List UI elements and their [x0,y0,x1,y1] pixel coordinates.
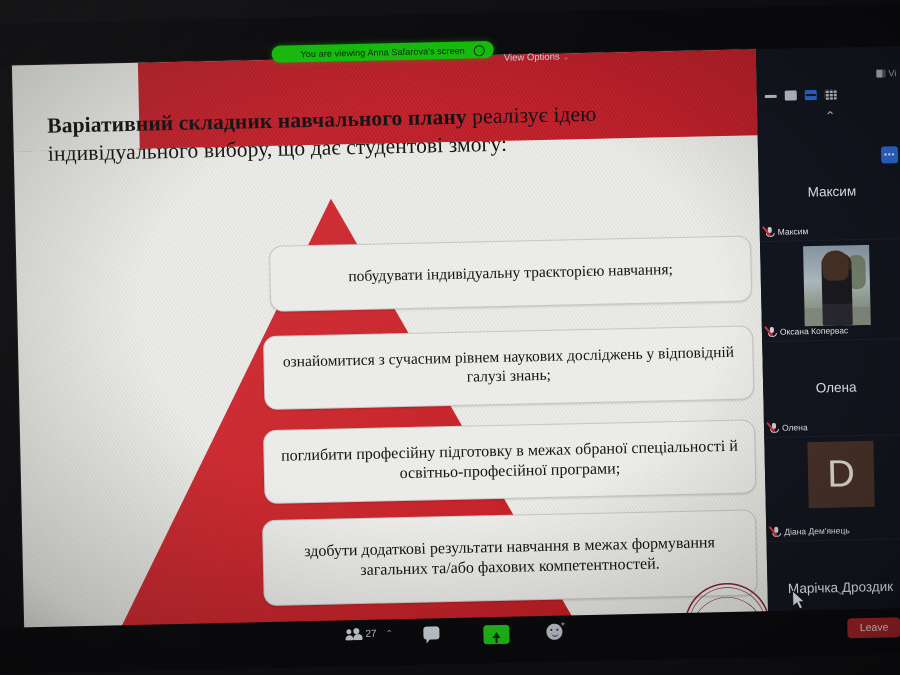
minimize-view-icon[interactable] [765,94,777,97]
view-mode-icons[interactable] [765,90,837,102]
participant-tile[interactable]: Олена Олена [762,338,900,438]
microphone-muted-icon [767,327,776,337]
more-options-button[interactable]: ••• [881,146,898,163]
mouse-cursor [793,590,809,612]
participant-namebar: Діана Дем'янець [771,525,850,537]
share-screen-icon [483,625,509,645]
gallery-view-icon[interactable] [825,90,837,100]
filmstrip-scroll-up[interactable]: ⌃ [757,108,900,124]
participants-count: 27 [365,628,376,639]
slide-box-3: поглибити професійну підготовку в межах … [263,419,756,504]
participant-name-label: Максим [778,226,809,237]
participant-namebar: Оксана Копервас [767,325,849,337]
slide-box-1-text: побудувати індивідуальну траєкторією нав… [336,260,685,287]
microphone-muted-icon [769,423,778,433]
reactions-icon: + [546,624,562,640]
zoom-meeting-screen: You are viewing Anna Safarova's screen V… [0,4,900,674]
chat-icon [423,626,439,639]
stop-share-icon[interactable] [474,45,485,56]
view-grid-icon [876,69,885,77]
slide-box-1: побудувати індивідуальну траєкторією нав… [269,235,752,311]
leave-button[interactable]: Leave [848,617,900,638]
view-options-button[interactable]: View Options ⌄ [504,51,570,63]
reactions-button[interactable]: + [546,624,562,640]
chevron-up-icon[interactable]: ⌃ [385,628,393,639]
participant-tile[interactable]: Максим Максим [758,142,900,242]
share-banner-text: You are viewing Anna Safarova's screen [300,45,464,59]
slide-box-2-text: ознайомитися з сучасним рівнем наукових … [264,344,753,392]
slide-box-2: ознайомитися з сучасним рівнем наукових … [263,325,754,410]
participant-display-name: Олена [763,378,900,396]
avatar-letter: D [827,455,855,494]
side-by-side-view-icon[interactable] [805,90,817,100]
participants-icon [346,628,361,640]
participants-button[interactable]: 27 ⌃ [346,627,393,640]
chevron-down-icon: ⌄ [563,53,570,61]
slide-box-4-text: здобути додаткові результати навчання в … [263,533,756,583]
participant-filmstrip[interactable]: ⌃ Максим Максим [756,46,900,634]
speaker-view-icon[interactable] [785,90,797,100]
participant-tile[interactable]: Оксана Копервас [760,238,900,342]
shared-slide: Варіативний складник навчального плану р… [12,49,769,650]
participant-namebar: Олена [769,422,808,433]
avatar: D [807,441,874,508]
participant-name-label: Діана Дем'янець [784,525,850,536]
microphone-muted-icon [771,527,780,537]
topright-view-control[interactable]: Vi [876,68,896,78]
slide-box-3-text: поглибити професійну підготовку в межах … [264,437,755,487]
microphone-muted-icon [765,227,774,237]
participant-display-name: Максим [759,183,900,201]
monitor-photo: You are viewing Anna Safarova's screen V… [0,0,900,675]
participant-name-label: Олена [782,422,808,433]
share-screen-button[interactable] [483,625,509,645]
participant-video-thumbnail [803,245,871,326]
topright-view-label: Vi [888,68,896,78]
chat-button[interactable] [423,626,439,639]
participant-tile[interactable]: D Діана Дем'янець [764,434,900,542]
view-options-label: View Options [504,52,560,64]
participant-namebar: Максим [765,226,809,237]
participant-name-label: Оксана Копервас [780,325,849,336]
